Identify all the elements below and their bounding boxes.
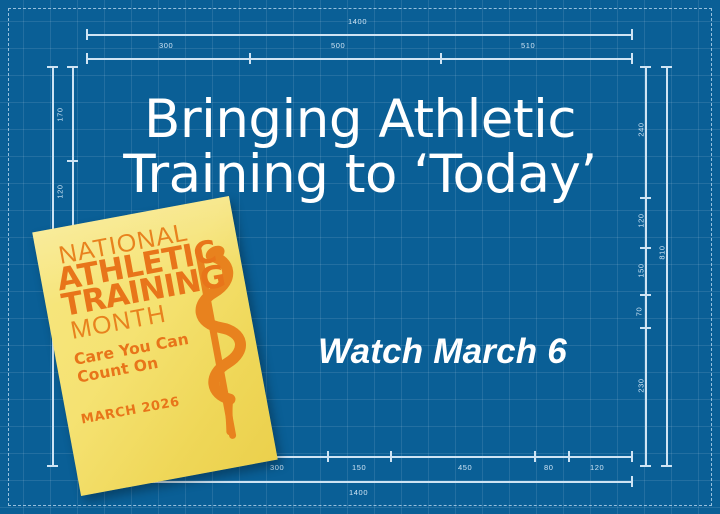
subtitle-watch-date: Watch March 6 — [318, 332, 567, 372]
poster-date: MARCH 2026 — [80, 395, 181, 428]
top-overall-tick-left — [86, 29, 88, 40]
bottom-chain-label-0: 300 — [270, 463, 284, 472]
page-title-line-1: Bringing Athletic — [0, 92, 720, 147]
top-chain-label-2: 510 — [521, 41, 535, 50]
bottom-chain-label-2: 450 — [458, 463, 472, 472]
bottom-overall-tick-right — [631, 476, 633, 487]
bottom-chain-label-4: 120 — [590, 463, 604, 472]
page-title: Bringing Athletic Training to ‘Today’ — [0, 92, 720, 202]
right-chain-label-4: 230 — [637, 378, 646, 392]
natm-poster: NATIONAL ATHLETIC TRAINING MONTH Care Yo… — [32, 196, 277, 496]
right-chain-tick-3 — [640, 294, 651, 296]
right-chain-label-3: 70 — [634, 307, 643, 317]
poster-card: NATIONAL ATHLETIC TRAINING MONTH Care Yo… — [32, 196, 277, 496]
right-chain-label-1: 120 — [637, 213, 646, 227]
right-overall-tick-top — [661, 66, 672, 68]
bottom-chain-tick-2 — [390, 451, 392, 462]
blueprint-canvas: 1400 300 500 510 810 170 120 240 120 150… — [0, 0, 720, 514]
bottom-chain-label-3: 80 — [544, 463, 554, 472]
right-chain-label-2: 150 — [637, 263, 646, 277]
right-chain-tick-5 — [640, 465, 651, 467]
right-chain-tick-0 — [640, 66, 651, 68]
top-overall-dimension-label: 1400 — [348, 17, 367, 26]
top-chain-label-0: 300 — [159, 41, 173, 50]
bottom-chain-tick-3 — [534, 451, 536, 462]
top-overall-dimension-line — [86, 34, 632, 36]
left-overall-tick-top — [47, 66, 58, 68]
bottom-chain-label-1: 150 — [352, 463, 366, 472]
bottom-overall-dimension-label: 1400 — [349, 488, 368, 497]
bottom-overall-dimension-line — [86, 481, 632, 483]
top-chain-tick-3 — [631, 53, 633, 64]
right-overall-dimension-label: 810 — [658, 245, 667, 259]
right-overall-tick-bottom — [661, 465, 672, 467]
page-title-line-2: Training to ‘Today’ — [0, 147, 720, 202]
top-chain-label-1: 500 — [331, 41, 345, 50]
top-chain-tick-2 — [440, 53, 442, 64]
right-chain-tick-2 — [640, 247, 651, 249]
left-overall-tick-bottom — [47, 465, 58, 467]
top-chain-tick-1 — [249, 53, 251, 64]
bottom-chain-tick-1 — [327, 451, 329, 462]
bottom-chain-tick-4 — [568, 451, 570, 462]
top-chain-tick-0 — [86, 53, 88, 64]
left-chain-tick-0 — [67, 66, 78, 68]
top-chain-dimension-line — [86, 58, 632, 60]
top-overall-tick-right — [631, 29, 633, 40]
bottom-chain-tick-5 — [631, 451, 633, 462]
right-chain-tick-4 — [640, 327, 651, 329]
